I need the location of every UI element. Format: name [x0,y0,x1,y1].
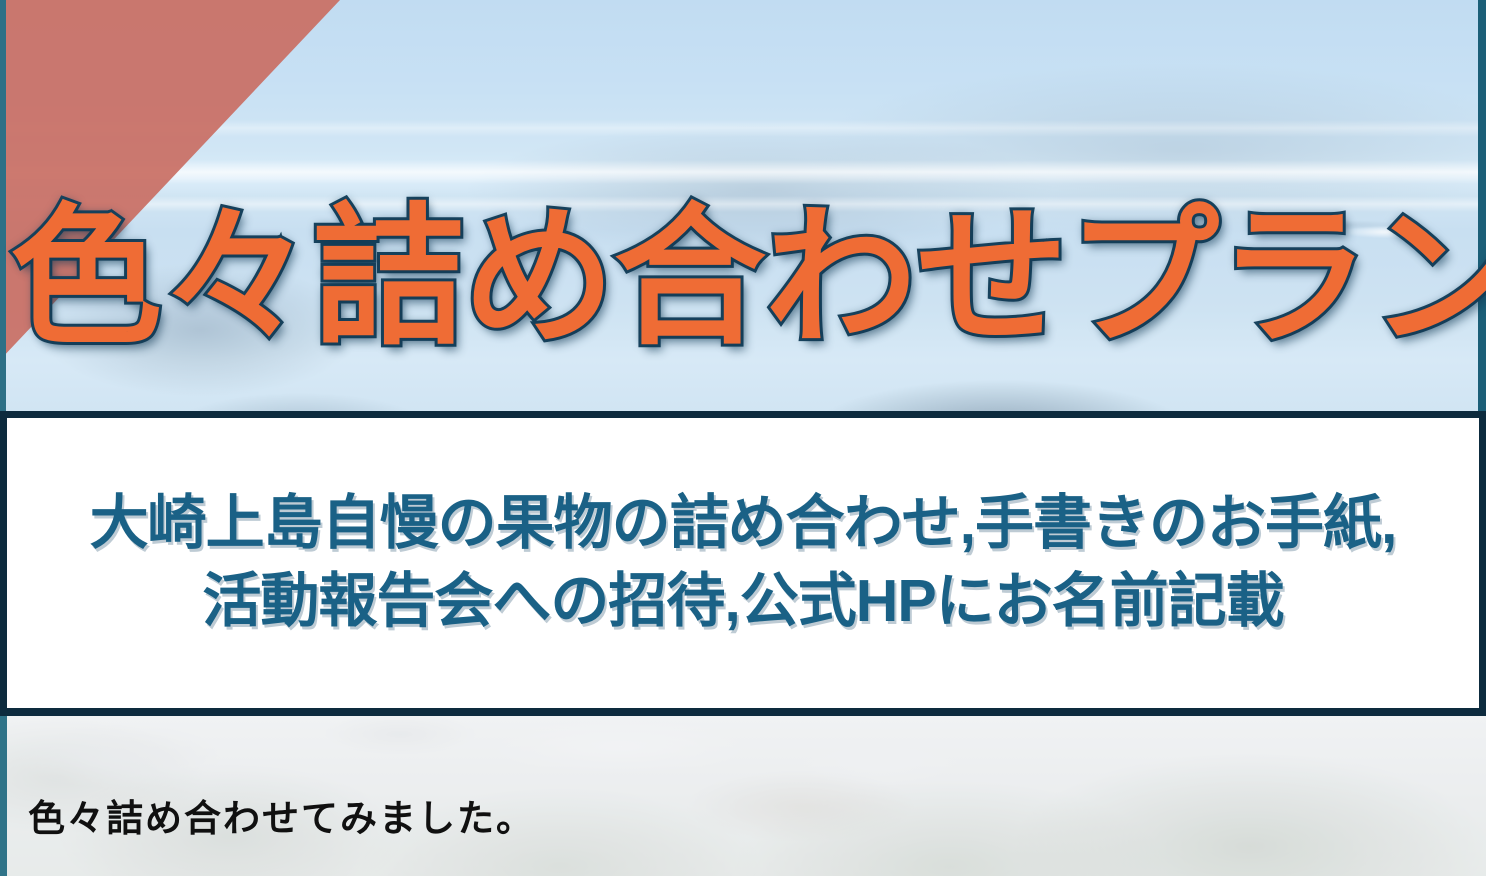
footer-caption: 色々詰め合わせてみました。 [28,788,535,842]
plan-title: 色々詰め合わせプラン [10,193,1486,363]
footer-left-border [0,716,7,876]
plan-description-panel: 大崎上島自慢の果物の詰め合わせ,手書きのお手紙, 活動報告会への招待,公式HPに… [0,418,1486,708]
hero-banner: 色々詰め合わせプラン [0,0,1486,418]
plan-card: 色々詰め合わせプラン 大崎上島自慢の果物の詰め合わせ,手書きのお手紙, 活動報告… [0,0,1486,876]
plan-description-line-1: 大崎上島自慢の果物の詰め合わせ,手書きのお手紙, [90,485,1397,563]
hero-left-border [0,0,6,411]
footer-photo-band: 色々詰め合わせてみました。 [0,708,1486,876]
plan-description-line-2: 活動報告会への招待,公式HPにお名前記載 [202,563,1283,641]
